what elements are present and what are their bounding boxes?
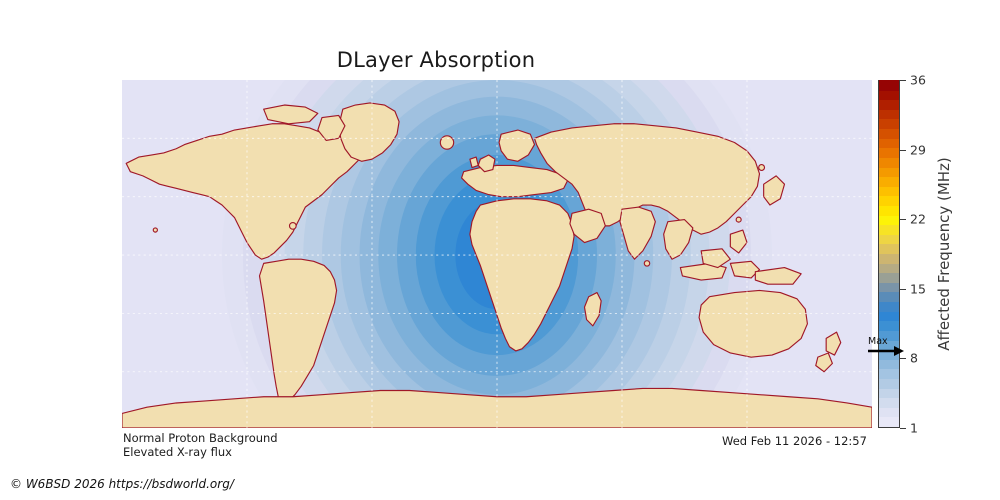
colorbar-segment [879, 368, 899, 378]
colorbar-segment [879, 176, 899, 186]
colorbar-tick [900, 428, 906, 429]
world-absorption-map[interactable] [122, 80, 872, 428]
colorbar-segment [879, 417, 899, 427]
colorbar-segment [879, 244, 899, 254]
colorbar-segment [879, 186, 899, 196]
colorbar-tick-label: 8 [910, 351, 918, 366]
colorbar-segment [879, 205, 899, 215]
colorbar-tick-label: 1 [910, 421, 918, 436]
colorbar-segment [879, 224, 899, 234]
colorbar-segment [879, 263, 899, 273]
colorbar-segment [879, 147, 899, 157]
island-taiwan [736, 217, 741, 222]
island-iceland [440, 136, 453, 149]
colorbar-tick-label: 29 [910, 142, 926, 157]
colorbar[interactable] [878, 80, 900, 428]
page-title: DLayer Absorption [0, 48, 872, 72]
max-marker-label: Max [868, 336, 888, 347]
colorbar-segment [879, 272, 899, 282]
colorbar-segment [879, 292, 899, 302]
note-xray-flux: Elevated X-ray flux [123, 445, 232, 459]
island-hawaii [153, 228, 157, 232]
colorbar-segment [879, 157, 899, 167]
island-sakhalin [759, 165, 765, 171]
colorbar-tick [900, 219, 906, 220]
colorbar-segment [879, 80, 899, 90]
note-proton-background: Normal Proton Background [123, 431, 278, 445]
colorbar-segment [879, 128, 899, 138]
colorbar-tick-label: 22 [910, 212, 926, 227]
colorbar-axis-label-text: Affected Frequency (MHz) [935, 157, 953, 351]
colorbar-segment [879, 138, 899, 148]
landmass-ireland [470, 157, 478, 167]
island-cuba [290, 223, 297, 230]
colorbar-segment [879, 301, 899, 311]
timestamp: Wed Feb 11 2026 - 12:57 [722, 434, 867, 448]
colorbar-segment [879, 234, 899, 244]
colorbar-segment [879, 119, 899, 129]
colorbar-segment [879, 407, 899, 417]
footer-credit: © W6BSD 2026 https://bsdworld.org/ [10, 477, 234, 491]
colorbar-segment [879, 109, 899, 119]
colorbar-axis-label: Affected Frequency (MHz) [932, 80, 956, 428]
colorbar-tick-label: 15 [910, 281, 926, 296]
max-marker: Max [866, 338, 910, 360]
colorbar-gradient [879, 81, 899, 427]
colorbar-segment [879, 320, 899, 330]
colorbar-segment [879, 311, 899, 321]
island-sri-lanka [644, 261, 649, 266]
colorbar-tick-label: 36 [910, 73, 926, 88]
colorbar-segment [879, 99, 899, 109]
colorbar-segment [879, 215, 899, 225]
colorbar-segment [879, 388, 899, 398]
colorbar-tick [900, 80, 906, 81]
map-canvas [122, 80, 872, 428]
colorbar-tick [900, 150, 906, 151]
colorbar-segment [879, 359, 899, 369]
colorbar-segment [879, 90, 899, 100]
colorbar-segment [879, 282, 899, 292]
dlayer-absorption-figure: DLayer Absorption [0, 0, 1000, 500]
colorbar-segment [879, 195, 899, 205]
colorbar-segment [879, 397, 899, 407]
colorbar-segment [879, 167, 899, 177]
colorbar-segment [879, 253, 899, 263]
colorbar-tick [900, 289, 906, 290]
colorbar-segment [879, 378, 899, 388]
